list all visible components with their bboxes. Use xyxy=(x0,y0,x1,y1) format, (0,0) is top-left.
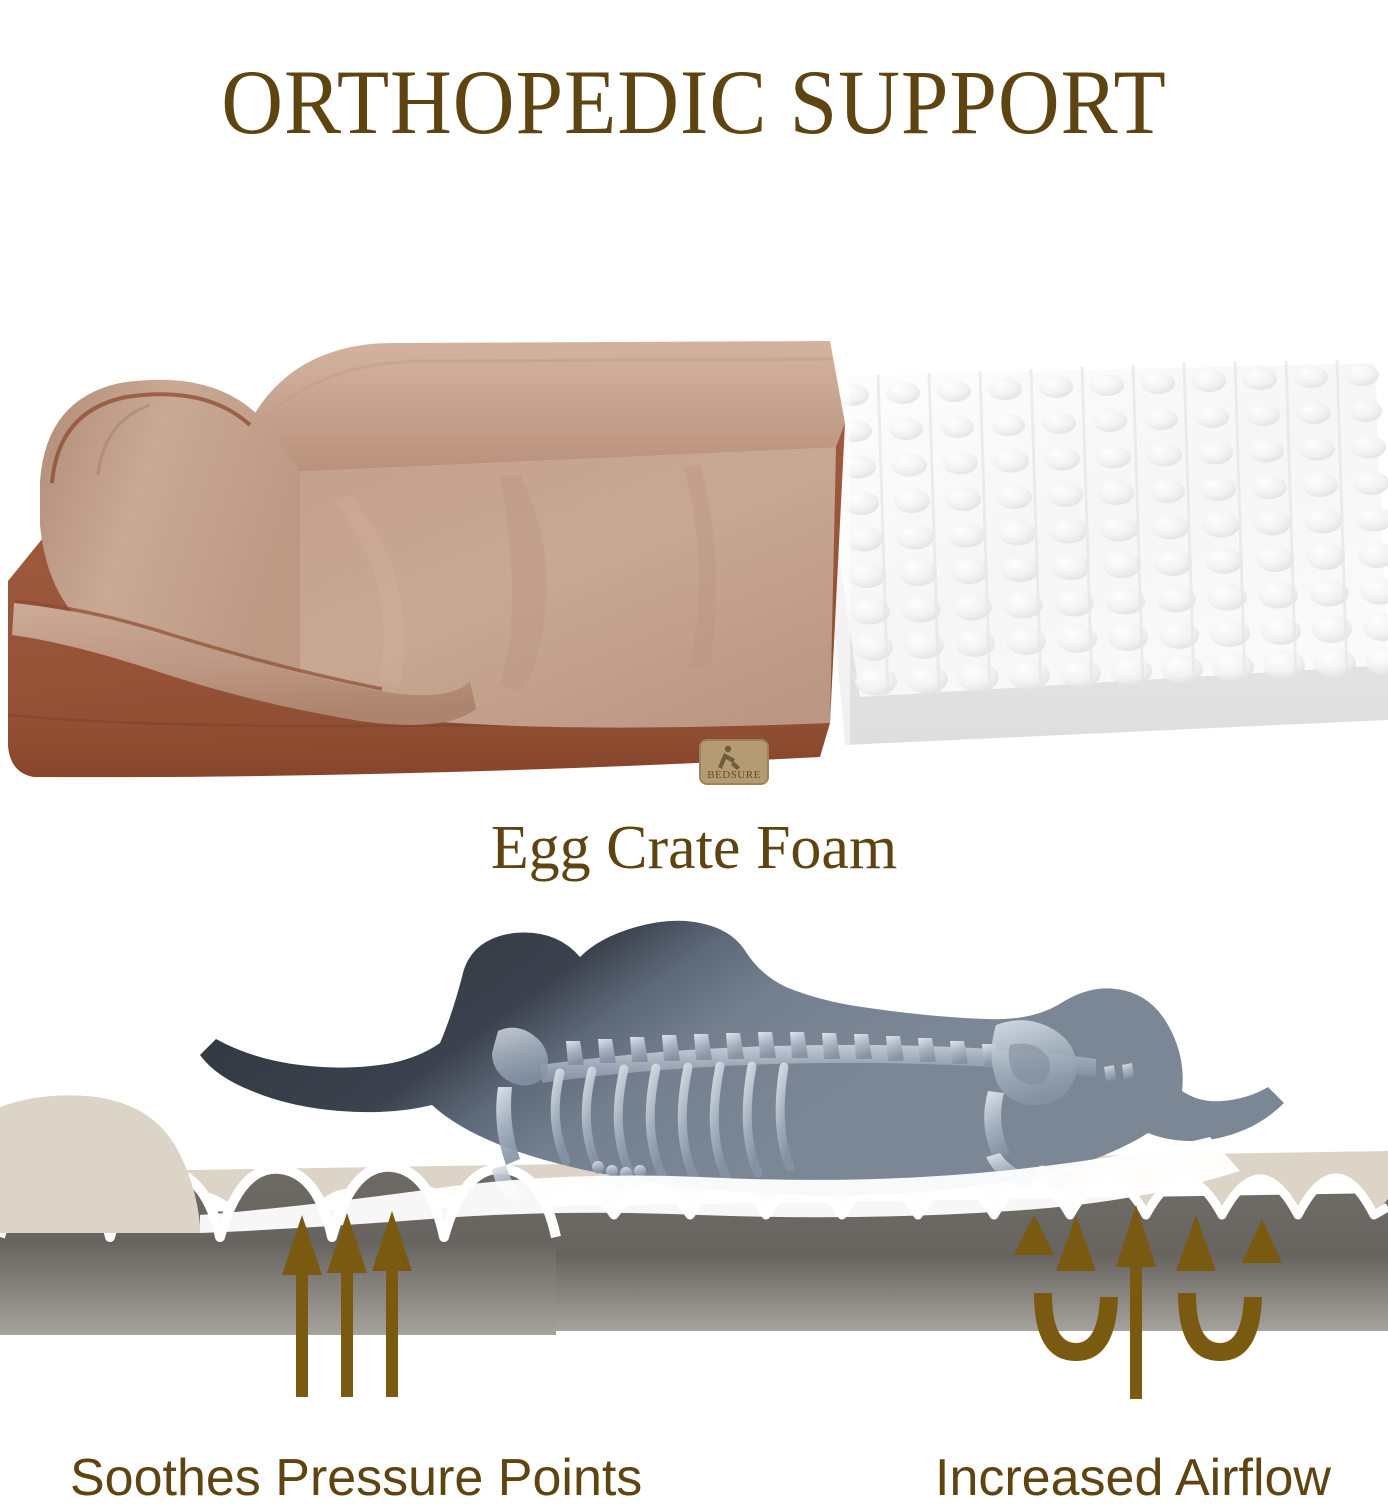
pressure-arrows-group xyxy=(282,1211,412,1397)
egg-crate-foam-slab xyxy=(790,355,1388,755)
brand-label: BEDSURE xyxy=(700,740,768,784)
page-title: ORTHOPEDIC SUPPORT xyxy=(49,52,1340,152)
caption-soothes-pressure-points: Soothes Pressure Points xyxy=(70,1448,642,1508)
brand-label-text: BEDSURE xyxy=(707,769,761,781)
infographic-page: ORTHOPEDIC SUPPORT xyxy=(0,0,1388,1500)
product-hero-image: BEDSURE xyxy=(0,325,1388,805)
caption-increased-airflow: Increased Airflow xyxy=(935,1448,1331,1508)
head-bolster-pillow xyxy=(0,1095,200,1233)
pressure-airflow-diagram xyxy=(0,915,1388,1405)
hero-caption: Egg Crate Foam xyxy=(0,812,1388,884)
bed-seat-surface xyxy=(300,447,836,728)
